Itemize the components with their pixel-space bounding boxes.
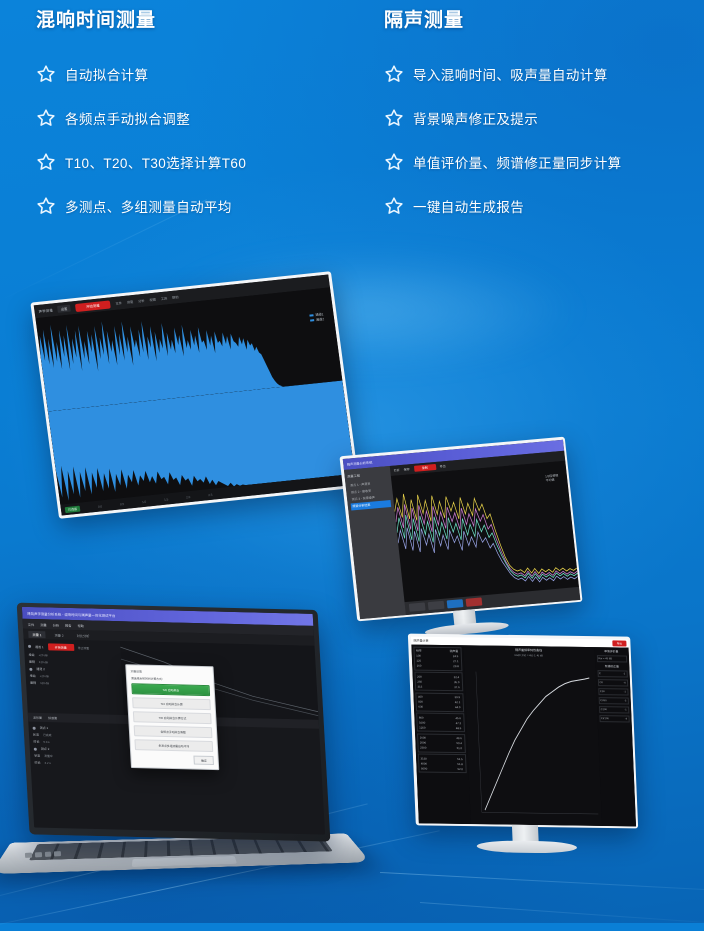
star-icon	[36, 152, 56, 172]
feature-item-label: 单值评价量、频谱修正量同步计算	[413, 152, 622, 172]
parameter-row: 通道 2	[29, 667, 117, 673]
stop-button[interactable]: 停止测量	[78, 646, 89, 650]
table-group: 1600 49.6 2000 50.4 2500 51.0	[416, 733, 465, 753]
menu-measure[interactable]: 测量	[126, 299, 133, 305]
parameter-row: 通道 1 开始测量 停止测量	[28, 643, 117, 652]
param-value: -1	[624, 690, 626, 693]
cell-frequency: 200	[417, 674, 422, 678]
waveform-screen: 声学测量 设置 开始测量 文件 测量 分析 视图 工具 帮助	[34, 274, 357, 515]
parameter-row: 增益 +20 dB	[28, 653, 116, 659]
cell-frequency: 400	[418, 695, 423, 699]
cell-value: 51.0	[457, 746, 463, 750]
menu-help[interactable]: 帮助	[77, 623, 84, 628]
param-label: 量程	[30, 681, 36, 685]
cell-frequency: 250	[417, 679, 422, 683]
param-value: -4	[625, 717, 627, 720]
feature-item: 多测点、多组测量自动平均	[36, 195, 352, 217]
param-row: Ctr50 -5	[598, 697, 628, 704]
menu-measure[interactable]: 测量	[40, 622, 47, 627]
menu-report[interactable]: 报告	[65, 622, 72, 627]
param-row: Ctr100 -4	[599, 715, 629, 722]
laptop-lid-frame: 建筑声学测量分析系统 - 混响时间与隔声量一体化测试平台 文件 测量 分析 报告…	[17, 603, 331, 842]
feature-item-label: 一键自动生成报告	[413, 196, 524, 216]
spectrum-body: 测量工程 测点 1 - 声源室 测点 2 - 接收室 测点 3 - 背景噪声 频…	[343, 450, 579, 618]
param-value: -1	[623, 672, 625, 675]
chart-screen: 隔声量计算 × 频率 隔声量 100 24.5	[410, 636, 635, 826]
spectrum-plot[interactable]: 1/3倍频程 平均值	[390, 460, 578, 602]
panel-title: 单值评价量	[596, 649, 626, 653]
frequency-table: 频率 隔声量 100 24.5 125 27.1	[411, 644, 471, 824]
laptop-lid: 建筑声学测量分析系统 - 混响时间与隔声量一体化测试平台 文件 测量 分析 报告…	[17, 603, 331, 842]
rw-value-label: Rw = 45 dB	[598, 657, 612, 660]
table-group: 频率 隔声量 100 24.5 125 27.1	[413, 646, 462, 671]
cell-frequency: 4000	[421, 761, 427, 765]
feature-item: 一键自动生成报告	[384, 195, 704, 217]
laptop-trackpad[interactable]	[132, 856, 237, 867]
param-value: 3.2 s	[45, 761, 51, 765]
table-group: 3150 51.5 4000 51.8 5000 52.0	[417, 753, 466, 773]
param-label: 测点 2	[41, 747, 50, 751]
cell-frequency: 2500	[420, 746, 426, 750]
tab-datatable[interactable]	[465, 598, 482, 607]
menu-tools[interactable]: 工具	[160, 295, 167, 301]
cell-value: 42.1	[455, 700, 461, 704]
menu-analysis[interactable]: 分析	[52, 622, 59, 627]
cell-value: 45.6	[455, 716, 461, 720]
waveform-canvas[interactable]: 通道1 通道2	[35, 287, 354, 504]
cell-value: 29.8	[453, 664, 459, 668]
param-value: -4	[623, 681, 625, 684]
measurement-settings-dialog: 测量设置 请选择反射时间计算方式： T20 自动拟合 T10 自动拟合计算 T3…	[125, 664, 219, 770]
export-button[interactable]: 导出	[613, 640, 626, 646]
cell-frequency: 100	[416, 654, 421, 658]
feature-item-label: 背景噪声修正及提示	[413, 108, 538, 128]
tab-waveform[interactable]	[408, 602, 425, 611]
dialog-option-t10[interactable]: T10 自动拟合计算	[132, 697, 211, 710]
param-value: 5.0 s	[43, 740, 49, 744]
cell-value: 49.6	[456, 736, 462, 740]
param-label: 通道 2	[36, 667, 45, 671]
parameter-row: 量程 120 dB	[29, 660, 117, 666]
cell-frequency: 1600	[420, 736, 426, 740]
column-header-insulation: 隔声量	[450, 649, 459, 653]
star-icon	[384, 108, 404, 128]
dialog-option-manual[interactable]: 各频点手动拟合调整	[134, 725, 213, 738]
cell-frequency: 315	[417, 684, 422, 688]
spectrum-screen: 隔声测量分析系统 测量工程 测点 1 - 声源室 测点 2 - 接收室 测点 3…	[342, 439, 580, 618]
tab-waterfall[interactable]	[446, 599, 463, 608]
cell-frequency: 160	[417, 664, 422, 668]
waveform-legend: 通道1 通道2	[309, 312, 324, 323]
feature-item: 背景噪声修正及提示	[384, 107, 704, 129]
tab-spectrum[interactable]	[427, 601, 444, 610]
cell-value: 48.5	[456, 726, 462, 730]
dialog-option-t30[interactable]: T30 自动拟合计算方式	[133, 711, 212, 724]
param-label: 增益	[30, 674, 36, 678]
param-name: C100	[601, 708, 607, 711]
menu-analysis[interactable]: 分析	[138, 298, 145, 304]
cell-value: 37.6	[454, 685, 460, 689]
dialog-option-t20[interactable]: T20 自动拟合	[131, 683, 210, 696]
cell-value: 51.8	[457, 762, 463, 766]
chart-body: 频率 隔声量 100 24.5 125 27.1	[411, 644, 636, 826]
star-icon	[384, 196, 404, 216]
feature-item-label: 自动拟合计算	[65, 64, 148, 84]
tab-spectrum[interactable]: 频谱图	[48, 716, 57, 720]
rw-value: Rw = 45 dB	[596, 655, 626, 662]
param-value: +20 dB	[38, 653, 47, 657]
star-icon	[36, 196, 56, 216]
feature-section: 混响时间测量 自动拟合计算 各频点手动拟合调整 T	[0, 0, 704, 250]
param-row: C100 -1	[599, 706, 629, 713]
param-value: 120 dB	[39, 660, 48, 664]
feature-item: 单值评价量、频谱修正量同步计算	[384, 151, 704, 173]
dialog-actions: 确定	[135, 754, 214, 765]
parameter-row: 增益 +20 dB	[30, 674, 118, 680]
cell-value: 51.5	[457, 757, 463, 761]
tab-measure-2[interactable]: 测量 2	[50, 631, 67, 638]
table-group: 800 45.6 1000 47.2 1250 48.5	[416, 713, 465, 733]
record-button[interactable]: 录制	[413, 464, 436, 472]
dialog-title: 测量设置	[131, 669, 209, 675]
feature-item-label: 多测点、多组测量自动平均	[65, 196, 232, 216]
cell-value: 44.0	[455, 705, 461, 709]
param-label: 状态	[33, 733, 39, 737]
cell-frequency: 2000	[420, 741, 426, 745]
monitor-chart: 隔声量计算 × 频率 隔声量 100 24.5	[408, 634, 638, 829]
feature-column-sound-insulation: 隔声测量 导入混响时间、吸声量自动计算 背景噪声修正及提示	[352, 10, 704, 250]
spectrum-legend: 1/3倍频程 平均值	[545, 473, 559, 483]
status-badge: 已连接	[65, 505, 81, 513]
param-label: 量程	[29, 660, 35, 664]
param-name: Ctr100	[601, 717, 609, 720]
bullet-icon	[29, 667, 32, 670]
table-row[interactable]: 1250 48.5	[418, 725, 462, 731]
cell-value: 50.4	[456, 741, 462, 745]
param-value: -1	[624, 708, 626, 711]
cell-frequency: 5000	[421, 766, 427, 770]
record-button[interactable]: 开始测量	[47, 643, 73, 651]
cell-frequency: 630	[418, 705, 423, 709]
column-title-sound-insulation: 隔声测量	[384, 10, 704, 33]
param-label: 测点 1	[40, 726, 49, 730]
axis-tick: 1.5	[164, 497, 169, 501]
menu-file[interactable]: 文件	[28, 621, 35, 626]
cell-frequency: 3150	[420, 756, 426, 760]
cell-frequency: 1250	[419, 725, 425, 729]
feature-item: T10、T20、T30选择计算T60	[36, 151, 352, 173]
param-value: 已完成	[43, 733, 52, 737]
menu-help[interactable]: 帮助	[172, 294, 179, 300]
tab-compare[interactable]: 对比分析	[72, 631, 93, 638]
param-row: C50 -1	[598, 688, 628, 695]
save-button[interactable]: 保存	[404, 467, 410, 472]
param-name: Ctr50	[600, 699, 606, 702]
cell-value: 47.2	[456, 721, 462, 725]
param-label: 时长	[34, 761, 40, 765]
cell-value: 52.0	[457, 767, 463, 771]
param-label: 状态	[34, 754, 40, 758]
background-accent-line	[420, 902, 704, 926]
param-value: +20 dB	[40, 674, 49, 678]
param-row: Ctr -4	[597, 679, 627, 686]
star-icon	[36, 64, 56, 84]
tab-waveform[interactable]: 波形图	[33, 715, 42, 719]
cell-value: 32.4	[454, 675, 460, 679]
laptop-screen: 建筑声学测量分析系统 - 混响时间与隔声量一体化测试平台 文件 测量 分析 报告…	[22, 607, 325, 835]
param-value: -5	[624, 699, 626, 702]
param-label: 通道 1	[35, 645, 44, 649]
parameter-list-top: 通道 1 开始测量 停止测量 增益 +20 dB 量程 120 dB	[24, 639, 124, 715]
table-group: 400 39.9 500 42.1 630 44.0	[415, 692, 464, 712]
table-row[interactable]: 630 44.0	[417, 704, 461, 710]
param-value: 120 dB	[40, 681, 49, 685]
column-header-frequency: 频率	[416, 649, 422, 653]
feature-item-label: 导入混响时间、吸声量自动计算	[413, 64, 608, 84]
dialog-option-average[interactable]: 多测点多组测量自动平均	[134, 739, 213, 752]
bullet-icon	[28, 645, 31, 648]
param-name: Ctr	[599, 681, 603, 684]
window-title: 隔声测量分析系统	[347, 459, 373, 466]
feature-item-label: T10、T20、T30选择计算T60	[65, 152, 246, 172]
star-icon	[384, 64, 404, 84]
axis-tick: 2.5	[208, 492, 213, 496]
table-row[interactable]: 2500 51.0	[419, 745, 463, 751]
star-icon	[36, 108, 56, 128]
feature-column-reverberation: 混响时间测量 自动拟合计算 各频点手动拟合调整 T	[0, 10, 352, 250]
feature-item: 各频点手动拟合调整	[36, 107, 352, 129]
cell-frequency: 125	[416, 659, 421, 663]
column-title-reverberation: 混响时间测量	[36, 10, 352, 33]
cell-value: 35.0	[454, 680, 460, 684]
window-title: 建筑声学测量分析系统 - 混响时间与隔声量一体化测试平台	[27, 610, 115, 617]
param-name: C	[599, 672, 601, 675]
param-row: C -1	[597, 670, 627, 677]
app-title: 声学测量	[38, 307, 53, 313]
settings-button[interactable]: 设置	[57, 305, 70, 313]
confirm-button[interactable]: 确定	[194, 756, 214, 765]
monitor-waveform: 声学测量 设置 开始测量 文件 测量 分析 视图 工具 帮助	[30, 271, 359, 519]
feature-item: 自动拟合计算	[36, 63, 352, 85]
parameter-row: 量程 120 dB	[30, 681, 118, 687]
param-label: 增益	[28, 653, 34, 657]
open-button[interactable]: 打开	[394, 468, 400, 473]
background-accent-line	[380, 872, 704, 894]
export-button[interactable]: 导出	[439, 464, 445, 469]
dialog-question: 请选择反射时间计算方式：	[131, 676, 209, 682]
param-name: C50	[600, 690, 605, 693]
spectrum-main: 打开 保存 录制 导出	[389, 450, 580, 614]
monitor-bezel: 隔声测量分析系统 测量工程 测点 1 - 声源室 测点 2 - 接收室 测点 3…	[339, 437, 582, 622]
monitor-bezel: 声学测量 设置 开始测量 文件 测量 分析 视图 工具 帮助	[30, 271, 359, 519]
cell-value: 27.1	[453, 659, 459, 663]
feature-item-label: 各频点手动拟合调整	[65, 108, 190, 128]
cell-frequency: 1000	[419, 720, 425, 724]
star-icon	[384, 152, 404, 172]
record-button[interactable]: 开始测量	[75, 300, 111, 312]
axis-tick: 2.0	[186, 495, 191, 499]
monitor-bezel: 隔声量计算 × 频率 隔声量 100 24.5	[408, 634, 638, 829]
menu-file[interactable]: 文件	[115, 300, 122, 306]
table-row[interactable]: 315 37.6	[416, 684, 460, 690]
axis-tick: 0.0	[98, 504, 103, 508]
laptop-device: 建筑声学测量分析系统 - 混响时间与隔声量一体化测试平台 文件 测量 分析 报告…	[8, 606, 348, 906]
param-value: 测量中	[44, 754, 53, 758]
feature-item: 导入混响时间、吸声量自动计算	[384, 63, 704, 85]
bullet-icon	[34, 747, 37, 750]
cell-frequency: 500	[418, 700, 423, 704]
cell-value: 24.5	[453, 654, 459, 658]
menu-view[interactable]: 视图	[149, 297, 156, 303]
table-group: 200 32.4 250 35.0 315 37.6	[414, 672, 463, 692]
legend-label: 通道2	[316, 317, 325, 322]
sidebar-title: 测量工程	[347, 470, 387, 478]
tab-measure-1[interactable]: 测量 1	[28, 630, 45, 637]
axis-tick: 0.5	[120, 501, 125, 505]
panel-title-params: 频谱修正量	[597, 664, 627, 668]
bullet-icon	[33, 726, 36, 729]
table-row[interactable]: 160 29.8	[416, 663, 460, 669]
axis-tick: 1.0	[142, 499, 147, 503]
window-title: 隔声量计算	[414, 638, 429, 642]
cell-value: 39.9	[454, 695, 460, 699]
table-row[interactable]: 5000 52.0	[420, 766, 464, 772]
cell-frequency: 800	[419, 715, 424, 719]
param-label: 时长	[33, 740, 39, 744]
monitor-spectrum: 隔声测量分析系统 测量工程 测点 1 - 声源室 测点 2 - 接收室 测点 3…	[339, 437, 582, 622]
insulation-chart[interactable]: 隔声量频率特性曲线 Rw(C;Ctr) = 45(-1;-4) dB	[463, 645, 602, 826]
